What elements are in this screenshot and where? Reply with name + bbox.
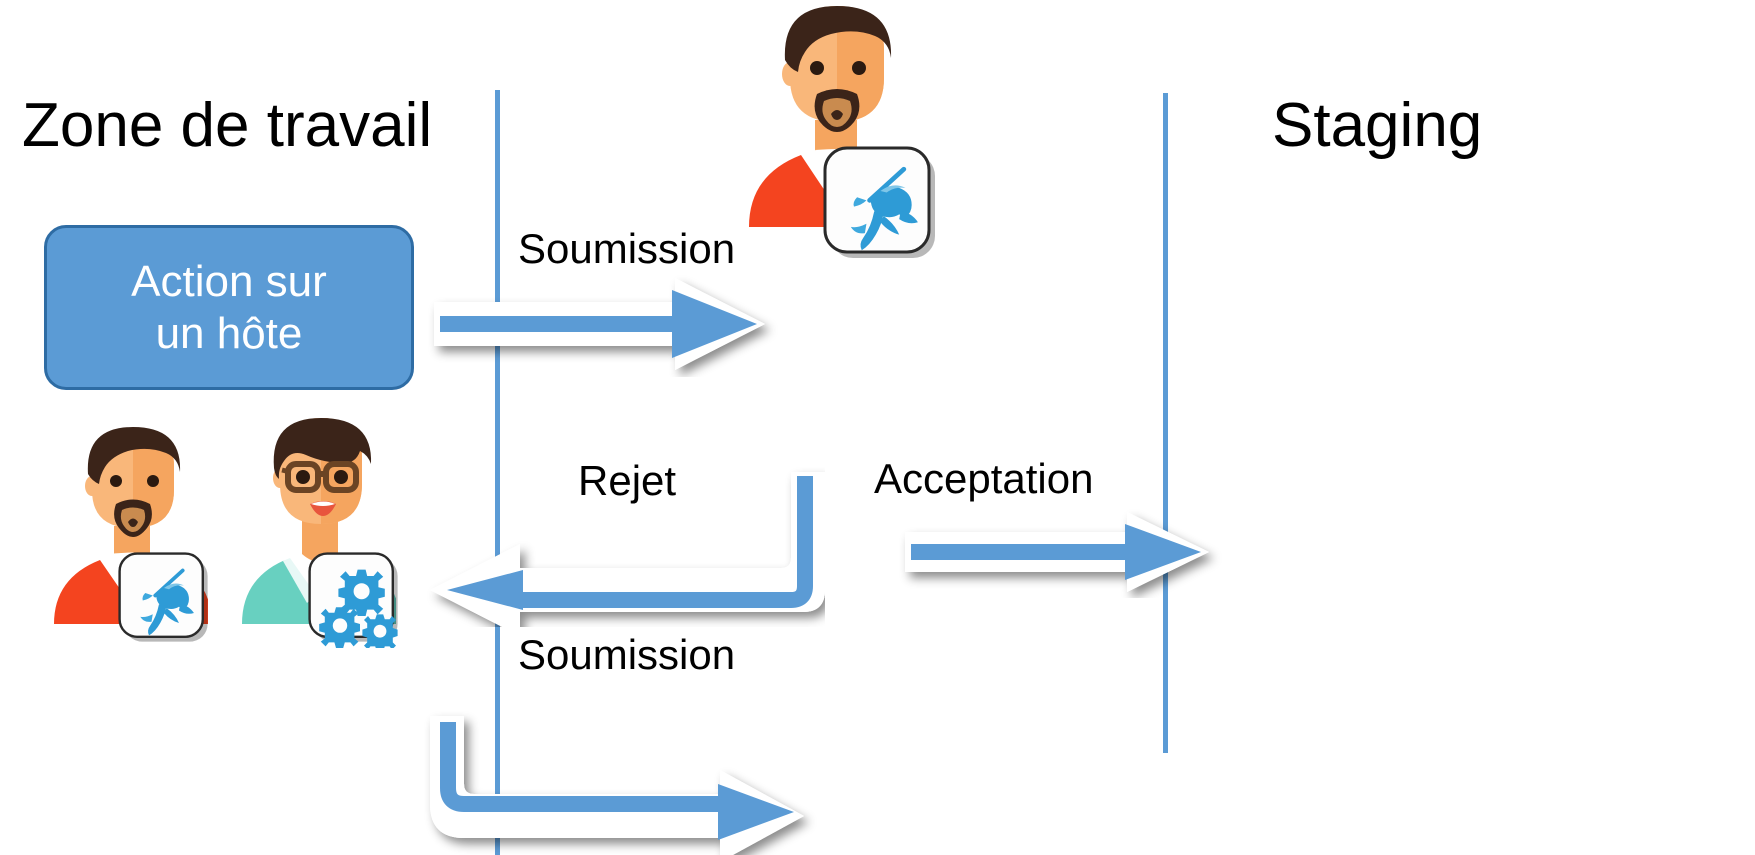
node-action-sur-un-hote[interactable]: Action sur un hôte <box>44 225 414 390</box>
diagram-canvas: Zone de travail Staging Action sur un hô… <box>0 0 1755 855</box>
lane-divider-right <box>1163 93 1168 753</box>
arrow-acceptation-svg <box>895 508 1225 598</box>
ninja-icon-badge-top <box>823 146 943 266</box>
arrow-soumission-top-svg <box>420 272 780 377</box>
lane-title-staging: Staging <box>1272 95 1482 157</box>
arrow-label-acceptation: Acceptation <box>874 458 1093 500</box>
action-box-line2: un hôte <box>131 308 327 360</box>
arrow-label-soumission-bottom: Soumission <box>518 634 735 676</box>
gears-icon <box>308 552 404 648</box>
arrow-acceptation <box>895 508 1225 598</box>
lane-title-zone-de-travail: Zone de travail <box>22 95 432 157</box>
ninja-icon <box>118 552 214 648</box>
action-box-line1: Action sur <box>131 256 327 308</box>
ninja-icon-badge-dev <box>118 552 214 648</box>
arrow-label-soumission-top: Soumission <box>518 228 735 270</box>
ninja-icon <box>823 146 943 266</box>
arrow-label-rejet: Rejet <box>578 460 676 502</box>
gears-icon-badge-ops <box>308 552 404 648</box>
arrow-soumission-top <box>420 272 780 377</box>
